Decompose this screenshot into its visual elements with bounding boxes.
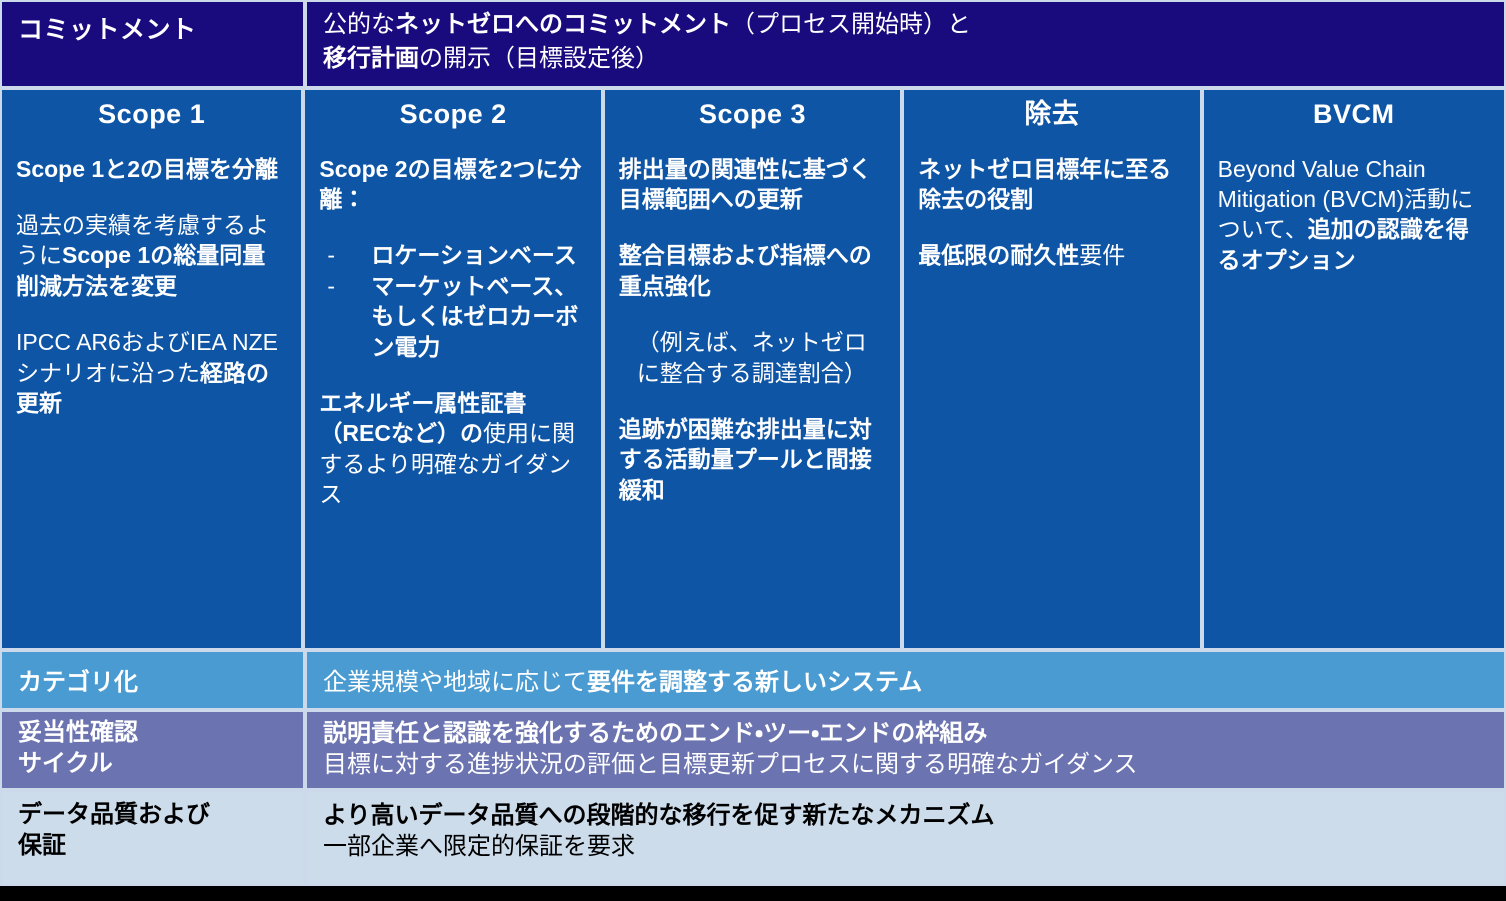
- categorization-body-cell: 企業規模や地域に応じて要件を調整する新しいシステム: [305, 650, 1506, 710]
- bvcm-body-para-0: Beyond Value Chain Mitigation (BVCM)活動につ…: [1218, 154, 1490, 275]
- table-row-validation-cycle: 妥当性確認 サイクル 説明責任と認識を強化するためのエンド・ツー・エンドの枠組み…: [0, 710, 1506, 790]
- summary-table: コミットメント 公的なネットゼロへのコミットメント（プロセス開始時）と 移行計画…: [0, 0, 1506, 901]
- validation-label-cell: 妥当性確認 サイクル: [0, 710, 305, 790]
- commitment-line1-bold: ネットゼロへのコミットメント: [395, 11, 731, 38]
- removals-body-para-0: ネットゼロ目標年に至る除去の役割: [918, 154, 1185, 215]
- scope-column-removals: 除去 ネットゼロ目標年に至る除去の役割最低限の耐久性要件: [902, 88, 1201, 650]
- scope-column-scope-1: Scope 1 Scope 1と2の目標を分離過去の実績を考慮するようにScop…: [0, 88, 303, 650]
- data-quality-label-line-1: データ品質および: [18, 800, 303, 831]
- scope-1-body: Scope 1と2の目標を分離過去の実績を考慮するようにScope 1の総量同量…: [16, 154, 287, 419]
- scope-2-body: Scope 2の目標を2つに分離：ロケーションベースマーケットベース、もしくはゼ…: [319, 154, 586, 510]
- bvcm-title: BVCM: [1218, 98, 1490, 132]
- commitment-line2-plain: の開示（目標設定後）: [419, 45, 659, 72]
- data-quality-label-line-2: 保証: [18, 831, 303, 862]
- scope-3-body: 排出量の関連性に基づく目標範囲への更新整合目標および指標への重点強化（例えば、ネ…: [619, 154, 886, 505]
- commitment-line-1: 公的なネットゼロへのコミットメント（プロセス開始時）と: [323, 8, 1504, 42]
- removals-title: 除去: [918, 98, 1185, 132]
- removals-body-para-1-seg-1: 要件: [1079, 242, 1125, 268]
- data-quality-label-cell: データ品質および 保証: [0, 790, 305, 886]
- scope-3-body-para-1: 整合目標および指標への重点強化: [619, 240, 886, 301]
- scope-2-body-list-item-1: マーケットベース、もしくはゼロカーボン電力: [319, 271, 586, 362]
- table-row-categorization: カテゴリ化 企業規模や地域に応じて要件を調整する新しいシステム: [0, 650, 1506, 710]
- commitment-line2-bold: 移行計画: [323, 45, 419, 72]
- scope-3-body-indent-2: （例えば、ネットゼロに整合する調達割合）: [619, 327, 886, 388]
- scope-3-body-para-3: 追跡が困難な排出量に対する活動量プールと間接緩和: [619, 414, 886, 505]
- commitment-line1-plain-a: 公的な: [323, 11, 395, 38]
- validation-line-1: 説明責任と認識を強化するためのエンド・ツー・エンドの枠組み: [323, 718, 1504, 749]
- validation-line-2: 目標に対する進捗状況の評価と目標更新プロセスに関する明確なガイダンス: [323, 749, 1504, 780]
- commitment-line1-plain-b: （プロセス開始時）と: [731, 11, 971, 38]
- table-row-commitment: コミットメント 公的なネットゼロへのコミットメント（プロセス開始時）と 移行計画…: [0, 0, 1506, 88]
- scope-2-body-list-item-0: ロケーションベース: [319, 240, 586, 270]
- scope-2-body-list-1: ロケーションベースマーケットベース、もしくはゼロカーボン電力: [319, 240, 586, 361]
- removals-body-para-1-seg-0: 最低限の耐久性: [918, 242, 1079, 268]
- table-row-data-quality: データ品質および 保証 より高いデータ品質への段階的な移行を促す新たなメカニズム…: [0, 790, 1506, 886]
- scope-column-bvcm: BVCM Beyond Value Chain Mitigation (BVCM…: [1202, 88, 1506, 650]
- validation-label-line-1: 妥当性確認: [18, 718, 303, 749]
- table-row-scopes: Scope 1 Scope 1と2の目標を分離過去の実績を考慮するようにScop…: [0, 88, 1506, 650]
- data-quality-line-2: 一部企業へ限定的保証を要求: [323, 831, 1504, 862]
- categorization-label: カテゴリ化: [18, 669, 138, 696]
- categorization-plain: 企業規模や地域に応じて: [323, 669, 587, 696]
- validation-label-line-2: サイクル: [18, 749, 303, 780]
- scope-1-body-para-1: 過去の実績を考慮するようにScope 1の総量同量削減方法を変更: [16, 210, 287, 301]
- validation-body-cell: 説明責任と認識を強化するためのエンド・ツー・エンドの枠組み 目標に対する進捗状況…: [305, 710, 1506, 790]
- removals-body: ネットゼロ目標年に至る除去の役割最低限の耐久性要件: [918, 154, 1185, 271]
- scope-3-title: Scope 3: [619, 98, 886, 132]
- commitment-line-2: 移行計画の開示（目標設定後）: [323, 42, 1504, 76]
- data-quality-body-cell: より高いデータ品質への段階的な移行を促す新たなメカニズム 一部企業へ限定的保証を…: [305, 790, 1506, 886]
- commitment-body-cell: 公的なネットゼロへのコミットメント（プロセス開始時）と 移行計画の開示（目標設定…: [305, 0, 1506, 88]
- scope-1-body-para-2: IPCC AR6およびIEA NZEシナリオに沿った経路の更新: [16, 327, 287, 418]
- scope-column-scope-3: Scope 3 排出量の関連性に基づく目標範囲への更新整合目標および指標への重点…: [603, 88, 902, 650]
- scope-3-body-para-0: 排出量の関連性に基づく目標範囲への更新: [619, 154, 886, 215]
- categorization-bold: 要件を調整する新しいシステム: [587, 669, 922, 696]
- removals-body-para-1: 最低限の耐久性要件: [918, 240, 1185, 270]
- data-quality-line-1: より高いデータ品質への段階的な移行を促す新たなメカニズム: [323, 800, 1504, 831]
- scope-column-scope-2: Scope 2 Scope 2の目標を2つに分離：ロケーションベースマーケットベ…: [303, 88, 602, 650]
- scope-2-body-para-2: エネルギー属性証書 （RECなど）の使用に関するより明確なガイダンス: [319, 388, 586, 509]
- commitment-label-cell: コミットメント: [0, 0, 305, 88]
- scope-1-title: Scope 1: [16, 98, 287, 132]
- bvcm-body: Beyond Value Chain Mitigation (BVCM)活動につ…: [1218, 154, 1490, 275]
- scope-2-body-para-0: Scope 2の目標を2つに分離：: [319, 154, 586, 215]
- scope-1-body-para-0: Scope 1と2の目標を分離: [16, 154, 287, 184]
- scope-2-title: Scope 2: [319, 98, 586, 132]
- commitment-label: コミットメント: [18, 16, 197, 44]
- categorization-label-cell: カテゴリ化: [0, 650, 305, 710]
